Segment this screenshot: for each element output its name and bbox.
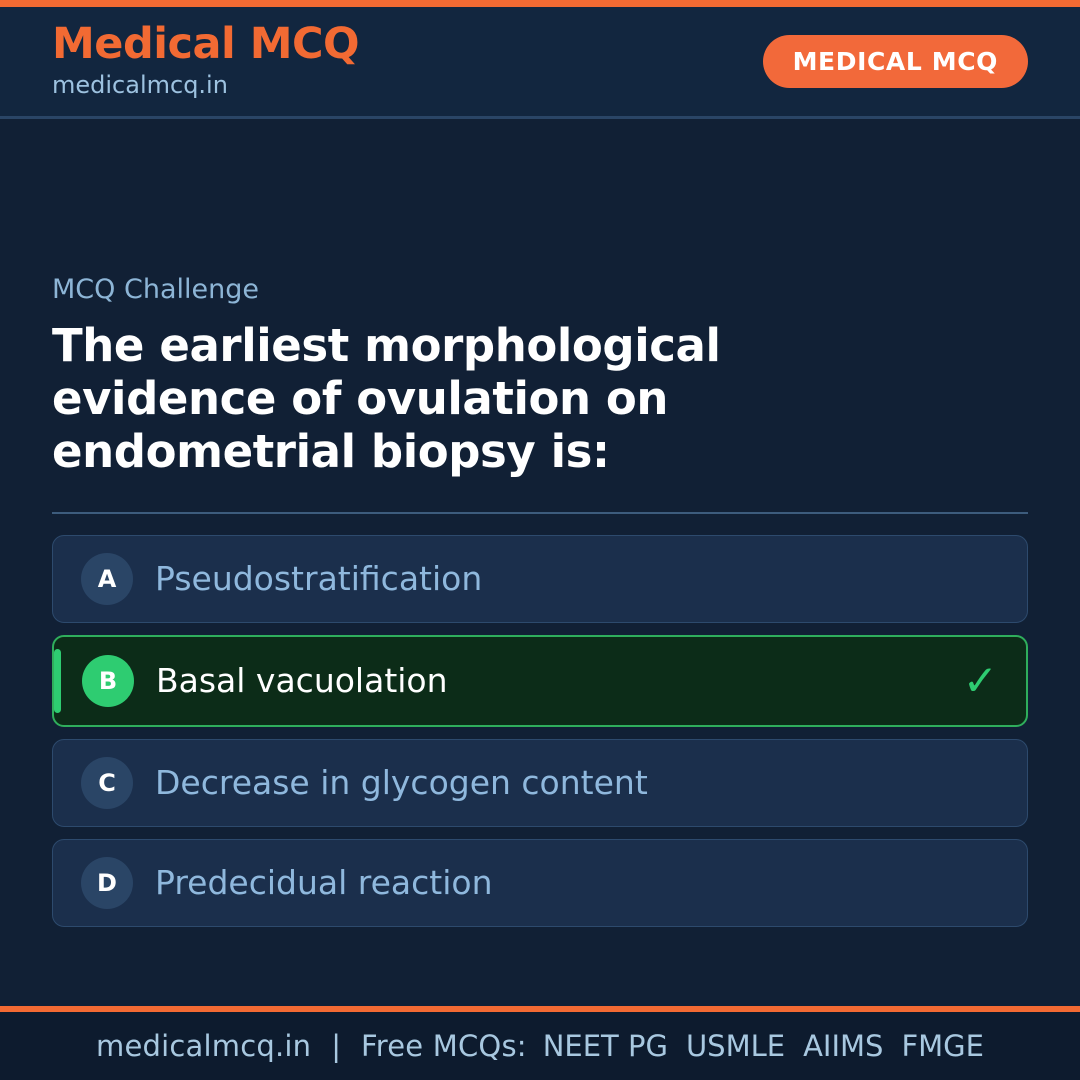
options-list: A Pseudostratification ✓ B Basal vacuola… bbox=[52, 535, 1028, 927]
footer-tag-usmle: USMLE bbox=[686, 1029, 785, 1063]
footer: medicalmcq.in | Free MCQs: NEET PG USMLE… bbox=[0, 1012, 1080, 1080]
option-c-text: Decrease in glycogen content bbox=[155, 765, 964, 801]
kicker-label: MCQ Challenge bbox=[52, 275, 1028, 305]
option-a-text: Pseudostratification bbox=[155, 561, 964, 597]
footer-tag-fmge: FMGE bbox=[901, 1029, 984, 1063]
mcq-card: Medical MCQ medicalmcq.in MEDICAL MCQ MC… bbox=[0, 0, 1080, 1080]
footer-tag-neetpg: NEET PG bbox=[543, 1029, 668, 1063]
option-c-letter: C bbox=[81, 757, 133, 809]
correct-accent-bar bbox=[54, 649, 61, 713]
footer-site: medicalmcq.in bbox=[96, 1029, 311, 1063]
question-divider bbox=[52, 512, 1028, 514]
footer-label: Free MCQs: bbox=[361, 1029, 527, 1063]
top-accent-bar bbox=[0, 0, 1080, 7]
option-d[interactable]: D Predecidual reaction ✓ bbox=[52, 839, 1028, 927]
option-d-text: Predecidual reaction bbox=[155, 865, 964, 901]
brand-title: Medical MCQ bbox=[52, 23, 359, 67]
option-d-letter: D bbox=[81, 857, 133, 909]
question-text: The earliest morphological evidence of o… bbox=[52, 319, 882, 478]
footer-tag-aiims: AIIMS bbox=[803, 1029, 883, 1063]
option-a-letter: A bbox=[81, 553, 133, 605]
option-b[interactable]: B Basal vacuolation ✓ bbox=[52, 635, 1028, 727]
option-b-text: Basal vacuolation bbox=[156, 663, 963, 699]
option-b-letter: B bbox=[82, 655, 134, 707]
footer-separator: | bbox=[311, 1029, 361, 1063]
check-icon: ✓ bbox=[963, 660, 998, 702]
header: Medical MCQ medicalmcq.in MEDICAL MCQ bbox=[0, 7, 1080, 119]
footer-tags: NEET PG USMLE AIIMS FMGE bbox=[543, 1029, 984, 1063]
brand: Medical MCQ medicalmcq.in bbox=[52, 23, 359, 100]
header-badge: MEDICAL MCQ bbox=[763, 35, 1028, 88]
option-a[interactable]: A Pseudostratification ✓ bbox=[52, 535, 1028, 623]
brand-subtitle: medicalmcq.in bbox=[52, 70, 359, 100]
main-content: MCQ Challenge The earliest morphological… bbox=[0, 119, 1080, 1006]
option-c[interactable]: C Decrease in glycogen content ✓ bbox=[52, 739, 1028, 827]
